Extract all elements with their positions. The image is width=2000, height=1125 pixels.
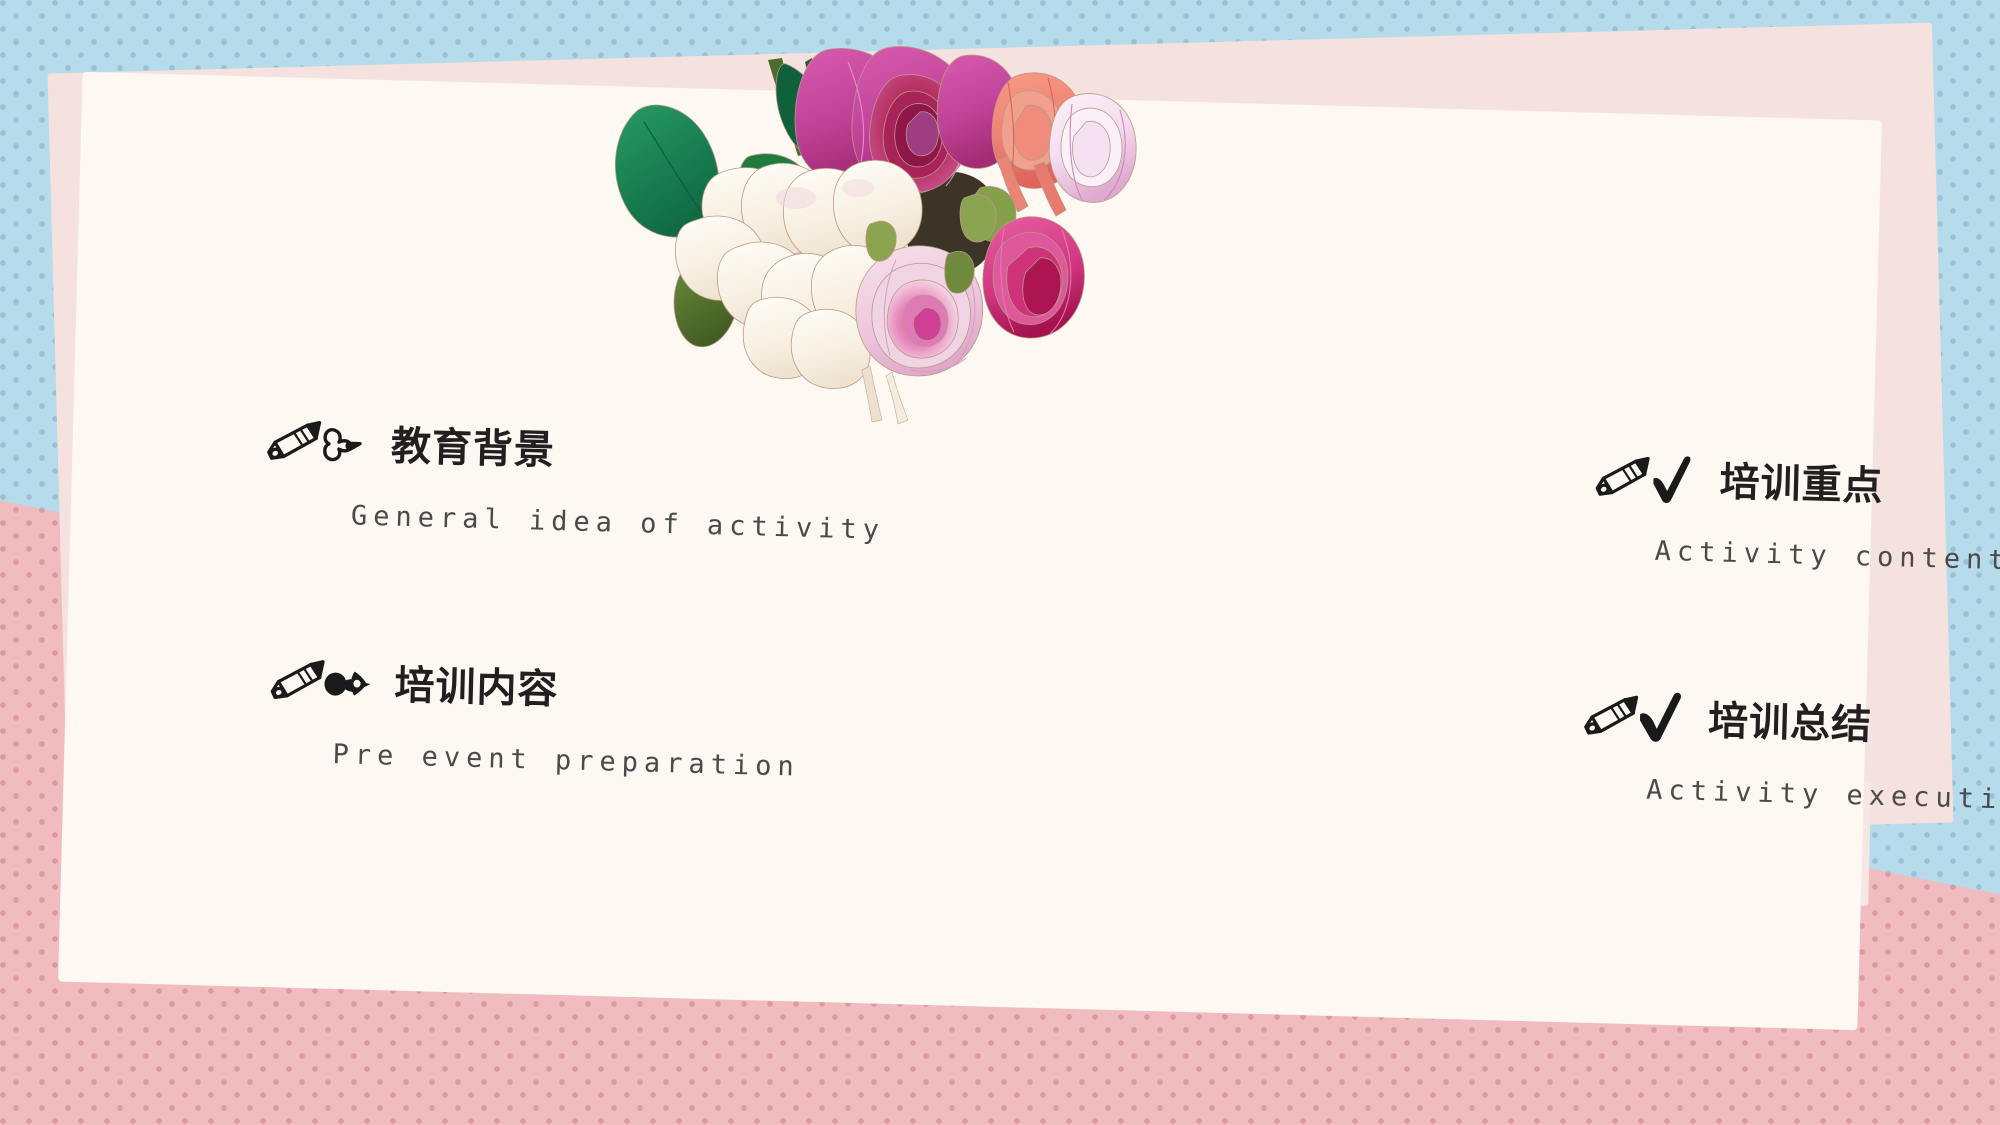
agenda-item-training-summary[interactable]: 培训总结 Activity execution plan <box>918 667 2000 821</box>
agenda-item-title: 培训内容 <box>394 653 560 715</box>
agenda-item-training-content[interactable]: 培训内容 Pre event preparation <box>244 649 881 785</box>
agenda-item-header: 教育背景 <box>262 410 887 485</box>
agenda-item-header: 培训内容 <box>266 649 881 724</box>
agenda-item-training-focus[interactable]: 培训重点 Activity content structure <box>925 428 2000 582</box>
agenda-item-subtitle: Activity execution plan <box>1646 775 2000 822</box>
agenda-item-subtitle: Pre event preparation <box>332 739 879 785</box>
agenda-item-education-background[interactable]: 教育背景 General idea of activity <box>251 410 888 546</box>
agenda-item-title: 培训总结 <box>1707 688 1873 750</box>
agenda-item-title: 教育背景 <box>390 413 556 475</box>
pencil-pen-nib-solid-icon <box>266 649 378 710</box>
pencil-check-icon <box>1591 446 1703 507</box>
agenda-grid: 教育背景 General idea of activity <box>244 410 1773 809</box>
agenda-item-subtitle: Activity content structure <box>1654 536 2000 583</box>
pencil-check-icon <box>1579 685 1691 746</box>
content-layer: 教育背景 General idea of activity <box>0 0 2000 1125</box>
pencil-pen-nib-outline-icon <box>262 410 374 471</box>
agenda-item-subtitle: General idea of activity <box>351 500 886 545</box>
agenda-item-header: 培训总结 <box>1579 685 2000 761</box>
agenda-item-header: 培训重点 <box>1591 446 2000 521</box>
slide-canvas: 教育背景 General idea of activity <box>0 0 2000 1125</box>
agenda-item-title: 培训重点 <box>1719 449 1885 511</box>
